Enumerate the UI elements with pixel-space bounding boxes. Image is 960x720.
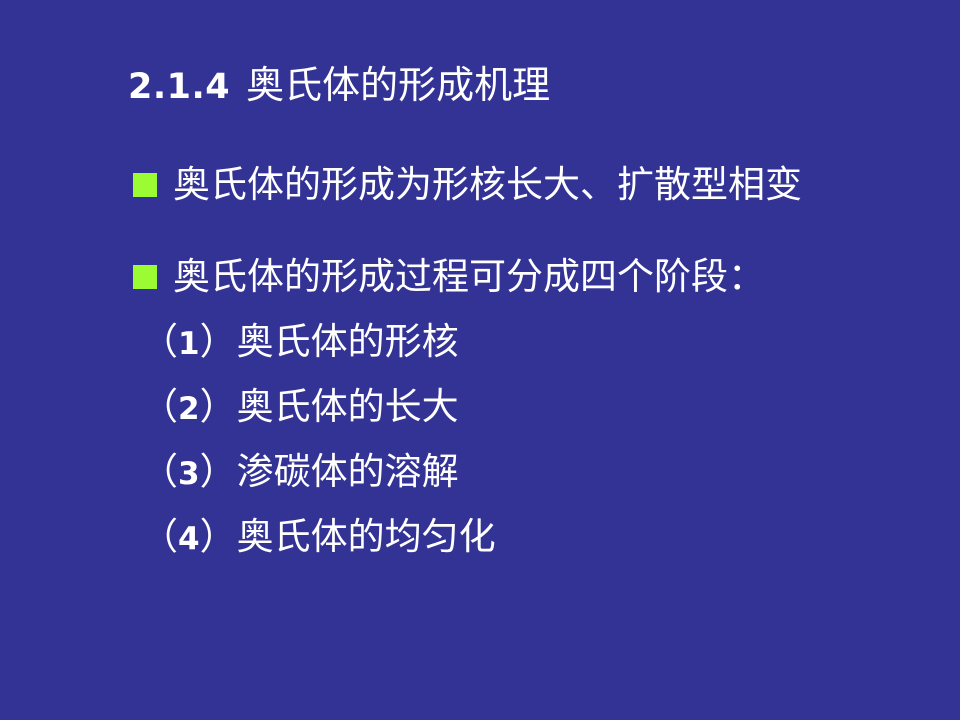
stage-item-1-label: 奥氏体的形核 [237, 320, 459, 363]
stage-item-1-open-paren: （ [141, 320, 178, 363]
title-section-number: 2.1.4 [128, 67, 230, 107]
page-title: 2.1.4奥氏体的形成机理 [128, 62, 908, 110]
stage-item-2: （2）奥氏体的长大 [141, 386, 459, 430]
stage-item-1-close-paren: ） [200, 320, 237, 363]
stage-item-1: （1）奥氏体的形核 [141, 321, 459, 365]
stage-item-2-number: 2 [178, 391, 200, 427]
stage-item-2-close-paren: ） [200, 385, 237, 428]
stage-item-4-open-paren: （ [141, 515, 178, 558]
stage-item-1-number: 1 [178, 326, 200, 362]
stage-item-4-number: 4 [178, 521, 200, 557]
stage-item-2-label: 奥氏体的长大 [237, 385, 459, 428]
square-bullet-icon [133, 173, 157, 197]
stage-item-4: （4）奥氏体的均匀化 [141, 516, 496, 560]
slide-canvas: 2.1.4奥氏体的形成机理 奥氏体的形成为形核长大、扩散型相变 奥氏体的形成过程… [0, 0, 960, 720]
stage-item-3-label: 渗碳体的溶解 [237, 450, 459, 493]
stage-item-3-close-paren: ） [200, 450, 237, 493]
stage-item-2-open-paren: （ [141, 385, 178, 428]
bullet-item-2-label: 奥氏体的形成过程可分成四个阶段： [173, 256, 765, 298]
stage-item-3: （3）渗碳体的溶解 [141, 451, 459, 495]
bullet-item-1-label: 奥氏体的形成为形核长大、扩散型相变 [173, 164, 802, 206]
stage-item-3-number: 3 [178, 456, 200, 492]
stage-item-3-open-paren: （ [141, 450, 178, 493]
stage-item-4-close-paren: ） [200, 515, 237, 558]
square-bullet-icon [133, 265, 157, 289]
bullet-item-2: 奥氏体的形成过程可分成四个阶段： [133, 256, 765, 298]
bullet-item-1: 奥氏体的形成为形核长大、扩散型相变 [133, 164, 802, 206]
stage-item-4-label: 奥氏体的均匀化 [237, 515, 496, 558]
title-heading-text: 奥氏体的形成机理 [246, 63, 550, 107]
